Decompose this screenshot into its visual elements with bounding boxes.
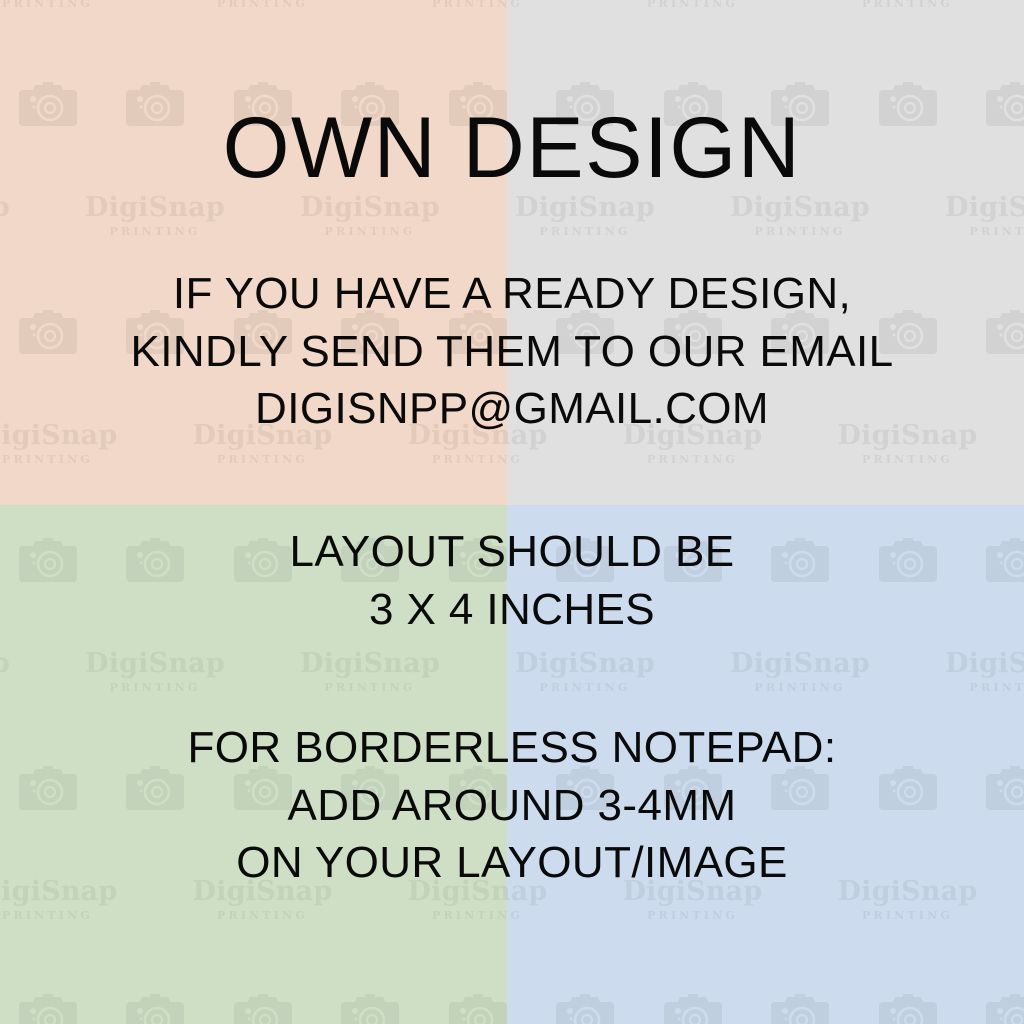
layout-size-text: LAYOUT SHOULD BE 3 X 4 INCHES: [0, 523, 1024, 638]
poster-content: OWN DESIGN IF YOU HAVE A READY DESIGN, K…: [0, 0, 1024, 1024]
email-instruction-text: IF YOU HAVE A READY DESIGN, KINDLY SEND …: [0, 265, 1024, 438]
poster-canvas: DigiSnapPRINTINGDigiSnapPRINTINGDigiSnap…: [0, 0, 1024, 1024]
borderless-bleed-text: FOR BORDERLESS NOTEPAD: ADD AROUND 3-4MM…: [0, 719, 1024, 892]
page-title: OWN DESIGN: [0, 103, 1024, 193]
